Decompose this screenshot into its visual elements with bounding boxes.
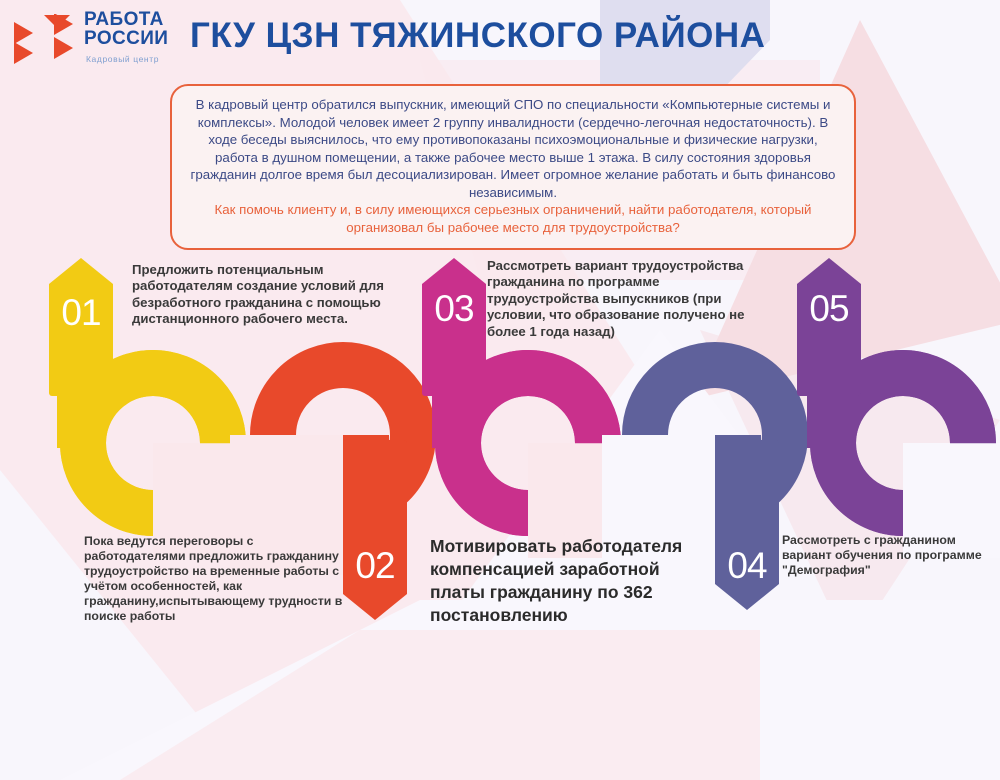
- background-shape-pink-bottom-band: [120, 630, 760, 780]
- logo-triangles-icon: [14, 14, 76, 66]
- step-02-number: 02: [343, 545, 407, 587]
- rabota-rossii-logo: РАБОТА РОССИИ Кадровый центр: [14, 10, 184, 70]
- step-04-text: Мотивировать работодателя компенсацией з…: [430, 535, 715, 627]
- step-02-text: Пока ведутся переговоры с работодателями…: [84, 534, 344, 624]
- step-03-number: 03: [422, 288, 486, 330]
- infographic-canvas: РАБОТА РОССИИ Кадровый центр ГКУ ЦЗН ТЯЖ…: [0, 0, 1000, 780]
- logo-title-line2: РОССИИ: [84, 29, 168, 48]
- case-body-text: В кадровый центр обратился выпускник, им…: [188, 96, 838, 201]
- logo-icon-svg: [14, 14, 76, 66]
- step-02-pin: [343, 440, 407, 620]
- logo-title: РАБОТА РОССИИ: [84, 10, 168, 48]
- step-05-number: 05: [797, 288, 861, 330]
- logo-title-line1: РАБОТА: [84, 10, 168, 29]
- logo-subtitle: Кадровый центр: [86, 54, 159, 64]
- case-question-text: Как помочь клиенту и, в силу имеющихся с…: [188, 201, 838, 236]
- case-description-box: В кадровый центр обратился выпускник, им…: [170, 84, 856, 250]
- page-title: ГКУ ЦЗН ТЯЖИНСКОГО РАЙОНА: [190, 16, 765, 56]
- step-04-number: 04: [715, 545, 779, 587]
- background-shape-white-bottom: [0, 600, 1000, 780]
- step-05-text: Рассмотреть с гражданином вариант обучен…: [782, 533, 992, 578]
- step-01-number: 01: [49, 292, 113, 334]
- step-01-text: Предложить потенциальным работодателям с…: [132, 262, 387, 328]
